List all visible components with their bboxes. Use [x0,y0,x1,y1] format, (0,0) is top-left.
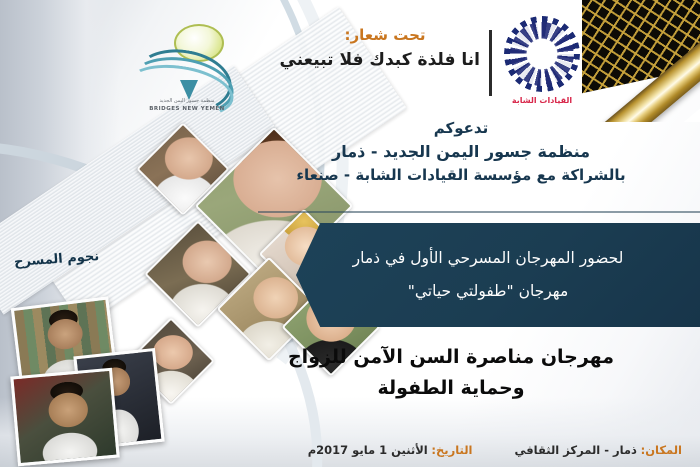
slogan-label: تحت شعار: [290,26,480,44]
page-title: مهرجان مناصرة السن الآمن للزواج وحماية ا… [216,344,686,402]
main-title-line-2: وحماية الطفولة [216,375,686,403]
event-banner: لحضور المهرجان المسرحي الأول في ذمار مهر… [296,223,700,327]
bridges-new-yemen-logo: منظمة جسور اليمن الجديد BRIDGES NEW YEME… [128,24,246,116]
footer-place: المكان: ذمار - المركز الثقافي [515,443,682,457]
checkmark-wing-icon [180,80,198,100]
young-leaders-logo: القيادات الشابة [490,16,594,114]
young-leaders-logo-name: القيادات الشابة [490,96,594,105]
banner-line-1: لحضور المهرجان المسرحي الأول في ذمار [353,246,644,271]
bridges-logo-name-ar: منظمة جسور اليمن الجديد [128,98,246,104]
banner-line-2: مهرجان "طفولتي حياتي" [408,279,589,304]
photo-actor-portrait-three [10,368,119,467]
place-value: ذمار - المركز الثقافي [515,443,637,457]
place-label: المكان: [641,443,682,457]
invitation-line-2: بالشراكة مع مؤسسة القيادات الشابة - صنعا… [236,164,686,187]
invitation-block: تدعوكم منظمة جسور اليمن الجديد - ذمار با… [236,118,686,186]
main-title-line-1: مهرجان مناصرة السن الآمن للزواج [216,344,686,372]
footer-date: التاريخ: الأثنين 1 مايو 2017م [308,443,473,457]
invitation-line-1: منظمة جسور اليمن الجديد - ذمار [236,140,686,164]
date-label: التاريخ: [431,443,472,457]
invitation-line-0: تدعوكم [236,118,686,140]
gold-page-curl [582,0,700,122]
ring-pattern-inner-icon [510,22,574,86]
date-value: الأثنين 1 مايو 2017م [308,443,428,457]
photo-inner [14,371,117,463]
section-divider [258,211,700,213]
event-poster: نجوم المسرح منظمة جسور اليمن الجديد BRID… [0,0,700,467]
bridges-logo-name-en: BRIDGES NEW YEMEN [128,106,246,112]
slogan-divider [489,30,492,96]
slogan-text: انا فلذة كبدك فلا تبيعني [290,50,480,71]
slogan-block: تحت شعار: انا فلذة كبدك فلا تبيعني [290,26,480,71]
poster-footer: المكان: ذمار - المركز الثقافي التاريخ: ا… [212,443,682,457]
